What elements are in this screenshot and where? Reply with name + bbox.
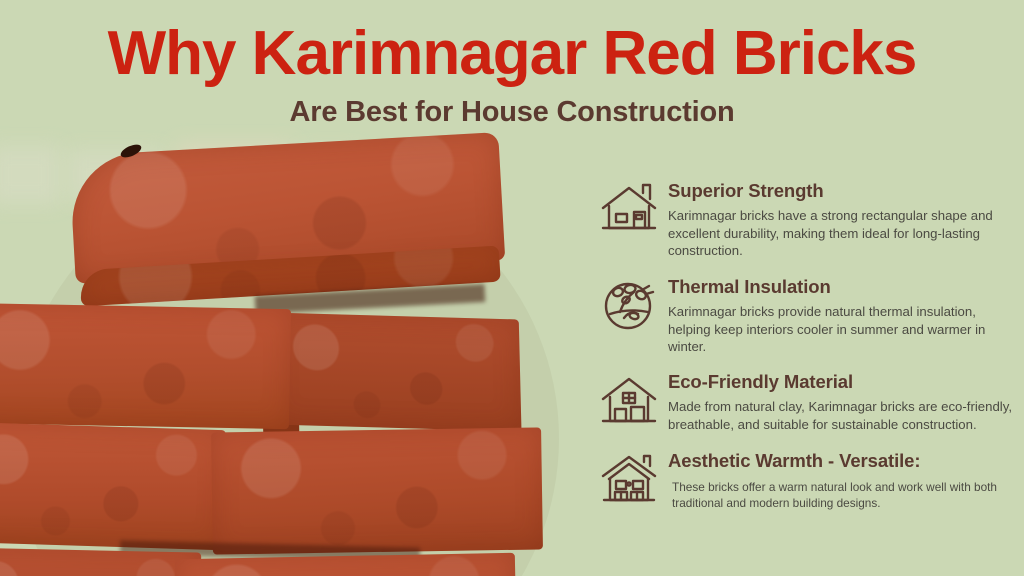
- feature-description: Karimnagar bricks provide natural therma…: [668, 303, 1012, 356]
- poster-header: Why Karimnagar Red Bricks Are Best for H…: [0, 0, 1024, 129]
- page-title: Why Karimnagar Red Bricks: [0, 0, 1024, 85]
- feature-item-eco-friendly-material: Eco-Friendly Material Made from natural …: [600, 369, 1012, 433]
- feature-item-thermal-insulation: Thermal Insulation Karimnagar bricks pro…: [600, 274, 1012, 356]
- brick-row2-left: [0, 303, 291, 429]
- feature-body: Thermal Insulation Karimnagar bricks pro…: [668, 274, 1012, 356]
- features-list: Superior Strength Karimnagar bricks have…: [600, 178, 1012, 523]
- feature-body: Superior Strength Karimnagar bricks have…: [668, 178, 1012, 260]
- brick-row2-right: [271, 313, 522, 432]
- feature-title: Superior Strength: [668, 180, 1012, 202]
- two-story-house-icon: [600, 452, 658, 508]
- feature-body: Aesthetic Warmth - Versatile: These bric…: [668, 448, 1012, 511]
- feature-title: Aesthetic Warmth - Versatile:: [668, 450, 1012, 472]
- feature-title: Thermal Insulation: [668, 276, 1012, 298]
- page-subtitle: Are Best for House Construction: [0, 85, 1024, 129]
- feature-description: Karimnagar bricks have a strong rectangu…: [668, 207, 1012, 260]
- barn-house-icon: [600, 373, 658, 429]
- brick-row4-left: [0, 547, 201, 576]
- plant-sprout-circle-icon: [600, 278, 658, 334]
- brick-stack-photo: [0, 140, 575, 576]
- feature-description: Made from natural clay, Karimnagar brick…: [668, 398, 1012, 433]
- feature-item-aesthetic-warmth: Aesthetic Warmth - Versatile: These bric…: [600, 448, 1012, 511]
- house-chimney-icon: [600, 182, 658, 238]
- infographic-poster: Why Karimnagar Red Bricks Are Best for H…: [0, 0, 1024, 576]
- feature-body: Eco-Friendly Material Made from natural …: [668, 369, 1012, 433]
- feature-item-superior-strength: Superior Strength Karimnagar bricks have…: [600, 178, 1012, 260]
- brick-row3-left: [0, 422, 226, 550]
- feature-title: Eco-Friendly Material: [668, 371, 1012, 393]
- brick-row3-right: [211, 427, 543, 554]
- feature-description: These bricks offer a warm natural look a…: [668, 479, 1012, 511]
